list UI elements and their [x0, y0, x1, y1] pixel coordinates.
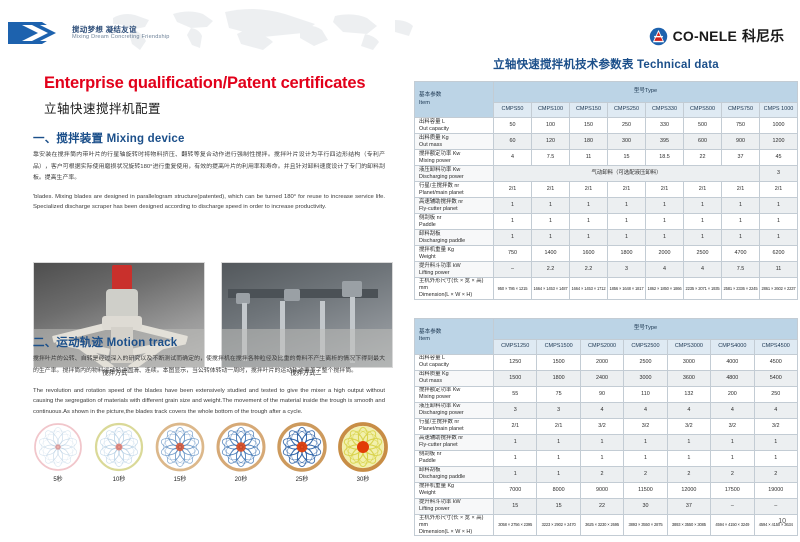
- page-root: 搅动梦想 凝结友谊 Mixing Dream Concreting Friend…: [0, 0, 800, 542]
- value-cell: 1: [667, 434, 710, 450]
- section2-heading-cn: 二、运动轨迹: [33, 337, 103, 349]
- type-header-cell: 型号Type: [494, 82, 798, 103]
- row-label-cn: 出料质量 Kg: [419, 135, 493, 142]
- model-header-cell: CMPS 1000: [760, 103, 798, 118]
- value-cell: 4: [667, 402, 710, 418]
- table-row: 高速辅助搅拌数 nrFly-cutter planet11111111: [415, 198, 798, 214]
- row-label-cell: 主机外形尺寸(长 × 宽 × 高) mmDimension(L × W × H): [415, 278, 494, 300]
- page-number-right: 10: [778, 518, 786, 525]
- row-label-en: Discharging paddle: [419, 238, 493, 245]
- section1-body-cn: 靠安装在搅拌筒内带叶片的行星轴旋转时将物料挤压、翻转等复合动作进行强制性搅拌。搅…: [33, 150, 385, 185]
- value-cell: 2/1: [760, 182, 798, 198]
- table-row: 出料质量 KgOut mass1500180024003000360048005…: [415, 370, 798, 386]
- value-cell: 19000: [754, 482, 797, 498]
- value-cell: 250: [754, 386, 797, 402]
- value-cell: 2/1: [537, 418, 580, 434]
- motion-track-label: 15秒: [155, 474, 205, 483]
- row-label-cell: 搅拌机重量 KgWeight: [415, 246, 494, 262]
- motion-track-diagram: [33, 422, 83, 472]
- value-cell: 45: [760, 150, 798, 166]
- technical-data-title: 立轴快速搅拌机技术参数表 Technical data: [412, 56, 800, 72]
- value-cell: 55: [494, 386, 537, 402]
- table-row: 出料容量 LOut capacity1250150020002500300040…: [415, 354, 798, 370]
- row-label-cn: 出料容量 L: [419, 119, 493, 126]
- value-cell: 2.2: [532, 262, 570, 278]
- row-label-en: Fly-cutter planet: [419, 206, 493, 213]
- table-row: 出料质量 KgOut mass601201803003956009001200: [415, 134, 798, 150]
- row-label-en: Paddle: [419, 222, 493, 229]
- row-label-en: Paddle: [419, 458, 493, 465]
- value-cell: 1400: [532, 246, 570, 262]
- value-cell: 750: [494, 246, 532, 262]
- value-cell: 180: [570, 134, 608, 150]
- value-cell: 9000: [580, 482, 623, 498]
- row-label-cn: 侧刮板 nr: [419, 451, 493, 458]
- table-row: 行星/主搅拌数 nrPlanet/main planet2/12/12/12/1…: [415, 182, 798, 198]
- chevron-arrow-logo-icon: [8, 22, 68, 44]
- model-header-cell: CMPS2500: [624, 339, 667, 354]
- value-cell: 50: [494, 118, 532, 134]
- row-label-en: Planet/main planet: [419, 426, 493, 433]
- value-cell: 1: [711, 434, 754, 450]
- row-label-cell: 出料容量 LOut capacity: [415, 118, 494, 134]
- row-label-cell: 卸料刮板Discharging paddle: [415, 466, 494, 482]
- item-header-en: Item: [419, 336, 493, 343]
- model-header-cell: CMPS2000: [580, 339, 623, 354]
- value-cell: 1862 × 1850 × 1866: [646, 278, 684, 300]
- value-cell: 132: [667, 386, 710, 402]
- table-row: 液压卸料功率 KwDischarging power3344444: [415, 402, 798, 418]
- item-header-cn: 基本参数: [419, 92, 493, 99]
- item-header-cn: 基本参数: [419, 329, 493, 336]
- value-cell: 1: [570, 214, 608, 230]
- motion-track-label: 20秒: [216, 474, 266, 483]
- value-cell: 2/1: [646, 182, 684, 198]
- value-cell: 8000: [537, 482, 580, 498]
- value-cell: 4000: [711, 354, 754, 370]
- value-cell: 4594 × 4150 × 3249: [711, 514, 754, 536]
- row-label-cell: 侧刮板 nrPaddle: [415, 214, 494, 230]
- value-cell: 1664 × 1453 × 1712: [570, 278, 608, 300]
- value-cell: –: [754, 498, 797, 514]
- row-label-en: Lifting power: [419, 270, 493, 277]
- row-label-cn: 液压卸料功率 Kw: [419, 403, 493, 410]
- brand-logo: CO-NELE 科尼乐: [649, 26, 784, 46]
- value-cell: 200: [711, 386, 754, 402]
- value-cell: 1: [532, 230, 570, 246]
- value-cell: 4: [711, 402, 754, 418]
- value-cell: 1: [494, 214, 532, 230]
- value-cell: 1250: [494, 354, 537, 370]
- world-map-watermark: [95, 6, 425, 52]
- value-cell: 2581 × 2336 × 2245: [722, 278, 760, 300]
- model-header-cell: CMPS1500: [537, 339, 580, 354]
- row-label-en: Discharging power: [419, 410, 493, 417]
- model-header-cell: CMPS1250: [494, 339, 537, 354]
- model-header-cell: CMPS250: [608, 103, 646, 118]
- row-label-en: Mixing power: [419, 158, 493, 165]
- table-header-row: 基本参数Item型号Type: [415, 318, 798, 339]
- value-cell: 2/1: [608, 182, 646, 198]
- value-cell: 3000: [624, 370, 667, 386]
- value-cell: 100: [532, 118, 570, 134]
- value-cell: 1200: [760, 134, 798, 150]
- value-cell: 1: [624, 434, 667, 450]
- value-cell: 15: [608, 150, 646, 166]
- row-label-en: Out mass: [419, 378, 493, 385]
- motion-track-label: 10秒: [94, 474, 144, 483]
- value-cell: 250: [608, 118, 646, 134]
- value-cell: 1500: [537, 354, 580, 370]
- table-row: 侧刮板 nrPaddle1111111: [415, 450, 798, 466]
- row-label-cn: 行星/主搅拌数 nr: [419, 419, 493, 426]
- value-cell: 4: [494, 150, 532, 166]
- row-label-cn: 提升料斗功率 kW: [419, 499, 493, 506]
- row-label-en: Out capacity: [419, 126, 493, 133]
- table-row: 搅拌额定功率 KwMixing power557590110132200250: [415, 386, 798, 402]
- value-cell: 2: [624, 466, 667, 482]
- value-cell: 110: [624, 386, 667, 402]
- value-cell: 1: [667, 450, 710, 466]
- technical-data-table-2: 基本参数Item型号TypeCMPS1250CMPS1500CMPS2000CM…: [414, 318, 798, 537]
- row-label-cn: 卸料刮板: [419, 467, 493, 474]
- value-cell: 1: [711, 450, 754, 466]
- row-label-cell: 卸料刮板Discharging paddle: [415, 230, 494, 246]
- value-cell: 75: [537, 386, 580, 402]
- value-cell: 17500: [711, 482, 754, 498]
- row-label-cn: 高速辅助搅拌数 nr: [419, 199, 493, 206]
- model-header-cell: CMPS500: [684, 103, 722, 118]
- model-header-cell: CMPS100: [532, 103, 570, 118]
- row-label-cell: 侧刮板 nrPaddle: [415, 450, 494, 466]
- row-label-cell: 出料质量 KgOut mass: [415, 370, 494, 386]
- value-cell: 2/1: [494, 182, 532, 198]
- row-label-cell: 搅拌额定功率 KwMixing power: [415, 150, 494, 166]
- technical-data-title-en: Technical data: [637, 59, 719, 71]
- row-label-en: Dimension(L × W × H): [419, 292, 493, 299]
- table-row: 侧刮板 nrPaddle11111111: [415, 214, 798, 230]
- model-header-cell: CMPS4000: [711, 339, 754, 354]
- value-cell: 1600: [570, 246, 608, 262]
- value-cell: 3: [760, 166, 798, 182]
- row-label-cell: 行星/主搅拌数 nrPlanet/main planet: [415, 182, 494, 198]
- value-cell: 3625 × 3230 × 2695: [580, 514, 623, 536]
- row-label-cn: 搅拌额定功率 Kw: [419, 387, 493, 394]
- motion-track-row: 5秒10秒15秒20秒25秒30秒: [33, 422, 393, 492]
- value-cell: 1: [754, 450, 797, 466]
- section1-body-en: 'blades. Mixing blades are designed in p…: [33, 192, 385, 213]
- value-cell: 37: [667, 498, 710, 514]
- row-label-cn: 侧刮板 nr: [419, 215, 493, 222]
- row-label-en: Out mass: [419, 142, 493, 149]
- row-label-en: Planet/main planet: [419, 190, 493, 197]
- value-cell: 1: [646, 230, 684, 246]
- mixer-shaft: [112, 265, 132, 291]
- value-cell: 1: [537, 450, 580, 466]
- row-label-cell: 行星/主搅拌数 nrPlanet/main planet: [415, 418, 494, 434]
- section1-heading-cn: 一、搅拌装置: [33, 133, 103, 145]
- row-label-cn: 高速辅助搅拌数 nr: [419, 435, 493, 442]
- value-cell: 500: [684, 118, 722, 134]
- value-cell: 11: [570, 150, 608, 166]
- value-cell: 6200: [760, 246, 798, 262]
- value-cell: 2/1: [532, 182, 570, 198]
- value-cell: 7.5: [722, 262, 760, 278]
- model-header-cell: CMPS750: [722, 103, 760, 118]
- value-cell: 750: [722, 118, 760, 134]
- row-label-cn: 搅拌机重量 Kg: [419, 247, 493, 254]
- section1-heading-en: Mixing device: [107, 133, 185, 145]
- technical-data-title-cn: 立轴快速搅拌机技术参数表: [493, 59, 633, 71]
- value-cell: 1856 × 1648 × 1817: [608, 278, 646, 300]
- value-cell: 3893 × 3550 × 3085: [667, 514, 710, 536]
- motion-track-diagram: [94, 422, 144, 472]
- conele-mark-icon: [649, 27, 668, 46]
- value-cell: 37: [722, 150, 760, 166]
- value-cell: 22: [580, 498, 623, 514]
- value-cell: 5400: [754, 370, 797, 386]
- row-label-cn: 出料质量 Kg: [419, 371, 493, 378]
- type-header-cell: 型号Type: [494, 318, 798, 339]
- value-cell: 4: [624, 402, 667, 418]
- value-cell: 2500: [624, 354, 667, 370]
- section2-body-en: The revolution and rotation speed of the…: [33, 386, 385, 417]
- section2-heading-en: Motion track: [107, 337, 178, 349]
- table-row: 提升料斗功率 kWLifting power–2.22.23447.511: [415, 262, 798, 278]
- table-header-row: 基本参数Item型号Type: [415, 82, 798, 103]
- row-label-en: Dimension(L × W × H): [419, 529, 493, 536]
- value-cell: 1: [494, 450, 537, 466]
- value-cell: 1: [570, 230, 608, 246]
- mixer-body: [106, 289, 138, 319]
- table-row: 搅拌机重量 KgWeight75014001600180020002500470…: [415, 246, 798, 262]
- table-row: 出料容量 LOut capacity5010015025033050075010…: [415, 118, 798, 134]
- section-heading-mixing-device: 一、搅拌装置 Mixing device: [33, 130, 185, 146]
- value-cell: 4500: [754, 354, 797, 370]
- page-title: Enterprise qualification/Patent certific…: [44, 74, 365, 93]
- value-cell: 2000: [580, 354, 623, 370]
- value-cell: 1: [646, 198, 684, 214]
- value-cell: 600: [684, 134, 722, 150]
- value-cell: 11500: [624, 482, 667, 498]
- value-cell: 2235 × 2071 × 1935: [684, 278, 722, 300]
- row-label-cell: 出料质量 KgOut mass: [415, 134, 494, 150]
- value-cell: 3/2: [754, 418, 797, 434]
- value-cell: 2/1: [722, 182, 760, 198]
- page-subtitle: 立轴快速搅拌机配置: [44, 98, 161, 117]
- value-cell: 1: [754, 434, 797, 450]
- row-label-cell: 提升料斗功率 kWLifting power: [415, 498, 494, 514]
- value-cell: 1500: [494, 370, 537, 386]
- value-cell: 1800: [608, 246, 646, 262]
- row-label-en: Discharging power: [419, 174, 493, 181]
- mount-plate: [284, 289, 300, 301]
- value-cell: 1: [646, 214, 684, 230]
- row-label-cell: 液压卸料功率 KwDischarging power: [415, 402, 494, 418]
- motion-track-diagram: [216, 422, 266, 472]
- right-content-column: 立轴快速搅拌机技术参数表 Technical data 基本参数Item型号Ty…: [412, 56, 800, 536]
- value-cell: 3/2: [624, 418, 667, 434]
- value-cell: 1: [532, 198, 570, 214]
- value-cell: 4: [580, 402, 623, 418]
- value-cell: 4800: [711, 370, 754, 386]
- value-cell: 1: [494, 466, 537, 482]
- brand-name-cn: 科尼乐: [742, 26, 784, 46]
- value-cell: 4: [684, 262, 722, 278]
- table-row: 行星/主搅拌数 nrPlanet/main planet2/12/13/23/2…: [415, 418, 798, 434]
- row-label-cn: 出料容量 L: [419, 355, 493, 362]
- row-label-en: Lifting power: [419, 506, 493, 513]
- value-cell: 950 × 786 × 1215: [494, 278, 532, 300]
- motion-track-label: 5秒: [33, 474, 83, 483]
- row-label-cell: 主机外形尺寸(长 × 宽 × 高) mmDimension(L × W × H): [415, 514, 494, 536]
- row-label-cell: 提升料斗功率 kWLifting power: [415, 262, 494, 278]
- value-cell: 1: [580, 450, 623, 466]
- value-cell: 1: [537, 434, 580, 450]
- value-cell: 3893 × 3550 × 2875: [624, 514, 667, 536]
- value-cell: 1: [494, 230, 532, 246]
- table-row: 卸料刮板Discharging paddle1122222: [415, 466, 798, 482]
- value-cell: 1: [722, 230, 760, 246]
- row-label-cn: 搅拌额定功率 Kw: [419, 151, 493, 158]
- row-label-en: Weight: [419, 490, 493, 497]
- value-cell: 4594 × 4150 × 3634: [754, 514, 797, 536]
- motion-track-diagram: [277, 422, 327, 472]
- value-cell: 15: [494, 498, 537, 514]
- model-header-cell: CMPS4500: [754, 339, 797, 354]
- row-label-en: Mixing power: [419, 394, 493, 401]
- page-header: 搅动梦想 凝结友谊 Mixing Dream Concreting Friend…: [0, 8, 800, 52]
- row-label-en: Out capacity: [419, 362, 493, 369]
- value-cell: 1800: [537, 370, 580, 386]
- value-cell: 1: [570, 198, 608, 214]
- value-cell: –: [711, 498, 754, 514]
- value-cell: 3: [494, 402, 537, 418]
- technical-data-table-1: 基本参数Item型号TypeCMPS50CMPS100CMPS150CMPS25…: [414, 81, 798, 300]
- value-cell: 2: [667, 466, 710, 482]
- value-cell: 30: [624, 498, 667, 514]
- motion-track-diagram: [338, 422, 388, 472]
- value-cell: 1: [684, 230, 722, 246]
- row-label-cn: 主机外形尺寸(长 × 宽 × 高) mm: [419, 515, 493, 529]
- row-label-cn: 液压卸料功率 Kw: [419, 167, 493, 174]
- model-header-cell: CMPS50: [494, 103, 532, 118]
- value-cell: 2: [580, 466, 623, 482]
- value-cell: 4700: [722, 246, 760, 262]
- value-cell: 7000: [494, 482, 537, 498]
- value-cell: 3/2: [711, 418, 754, 434]
- value-cell: 3600: [667, 370, 710, 386]
- row-label-cn: 搅拌机重量 Kg: [419, 483, 493, 490]
- row-label-cell: 液压卸料功率 KwDischarging power: [415, 166, 494, 182]
- row-label-cell: 高速辅助搅拌数 nrFly-cutter planet: [415, 198, 494, 214]
- value-cell: 1000: [760, 118, 798, 134]
- value-cell: 1: [494, 198, 532, 214]
- value-cell: 2000: [646, 246, 684, 262]
- mixing-method-two-photo: [221, 262, 393, 368]
- value-cell: 4: [646, 262, 684, 278]
- row-label-cell: 搅拌额定功率 KwMixing power: [415, 386, 494, 402]
- value-cell: 3/2: [667, 418, 710, 434]
- table-row: 搅拌额定功率 KwMixing power47.5111518.5223745: [415, 150, 798, 166]
- table-row: 液压卸料功率 KwDischarging power气动卸料（可选配液压卸料）3: [415, 166, 798, 182]
- table-row: 卸料刮板Discharging paddle11111111: [415, 230, 798, 246]
- motion-track-label: 30秒: [338, 474, 388, 483]
- value-cell: 900: [722, 134, 760, 150]
- value-cell: 2: [754, 466, 797, 482]
- row-label-en: Discharging paddle: [419, 474, 493, 481]
- value-cell: 1: [537, 466, 580, 482]
- value-cell: 150: [570, 118, 608, 134]
- section-heading-motion-track: 二、运动轨迹 Motion track: [33, 334, 177, 350]
- table-row: 提升料斗功率 kWLifting power1515223037––: [415, 498, 798, 514]
- value-cell: 1: [608, 214, 646, 230]
- value-cell: 3/2: [580, 418, 623, 434]
- value-cell: 2/1: [494, 418, 537, 434]
- table-row: 主机外形尺寸(长 × 宽 × 高) mmDimension(L × W × H)…: [415, 278, 798, 300]
- item-header-en: Item: [419, 100, 493, 107]
- model-header-cell: CMPS150: [570, 103, 608, 118]
- value-cell: 300: [608, 134, 646, 150]
- value-cell: 1: [760, 230, 798, 246]
- value-cell: 4: [754, 402, 797, 418]
- value-cell: 1: [580, 434, 623, 450]
- value-cell: 12000: [667, 482, 710, 498]
- value-cell: 1: [722, 214, 760, 230]
- value-cell: 60: [494, 134, 532, 150]
- row-label-en: Weight: [419, 254, 493, 261]
- value-cell: 7.5: [532, 150, 570, 166]
- value-cell: –: [494, 262, 532, 278]
- value-cell: 2500: [684, 246, 722, 262]
- value-cell: 3000: [667, 354, 710, 370]
- item-header-cell: 基本参数Item: [415, 318, 494, 354]
- value-cell: 1: [624, 450, 667, 466]
- value-cell: 3223 × 2902 × 2470: [537, 514, 580, 536]
- value-cell: 3058 × 2756 × 2395: [494, 514, 537, 536]
- value-cell: 2/1: [684, 182, 722, 198]
- value-cell: 2: [711, 466, 754, 482]
- row-label-cell: 高速辅助搅拌数 nrFly-cutter planet: [415, 434, 494, 450]
- value-cell: 1: [532, 214, 570, 230]
- value-cell: 15: [537, 498, 580, 514]
- slogan-english: Mixing Dream Concreting Friendship: [72, 34, 170, 40]
- mixing-method-one-photo: [33, 262, 205, 368]
- value-cell: 1: [494, 434, 537, 450]
- mount-plate: [342, 281, 362, 297]
- value-cell: 1: [722, 198, 760, 214]
- value-cell: 2400: [580, 370, 623, 386]
- table-row: 搅拌机重量 KgWeight70008000900011500120001750…: [415, 482, 798, 498]
- value-cell: 11: [760, 262, 798, 278]
- value-cell: 395: [646, 134, 684, 150]
- section2-body-cn: 搅拌叶片的公转、自转是经过深入的研究以及不断测试而确定的，使搅拌机在搅拌各种粒径…: [33, 354, 385, 377]
- row-label-cn: 行星/主搅拌数 nr: [419, 183, 493, 190]
- value-cell: 18.5: [646, 150, 684, 166]
- motion-track-label: 25秒: [277, 474, 327, 483]
- row-label-en: Fly-cutter planet: [419, 442, 493, 449]
- value-cell: 3: [608, 262, 646, 278]
- merged-value-cell: 气动卸料（可选配液压卸料）: [494, 166, 760, 182]
- row-label-cn: 提升料斗功率 kW: [419, 263, 493, 270]
- value-cell: 2.2: [570, 262, 608, 278]
- table-row: 主机外形尺寸(长 × 宽 × 高) mmDimension(L × W × H)…: [415, 514, 798, 536]
- table-row: 高速辅助搅拌数 nrFly-cutter planet1111111: [415, 434, 798, 450]
- value-cell: 1: [608, 198, 646, 214]
- value-cell: 1: [760, 214, 798, 230]
- value-cell: 90: [580, 386, 623, 402]
- value-cell: 1: [608, 230, 646, 246]
